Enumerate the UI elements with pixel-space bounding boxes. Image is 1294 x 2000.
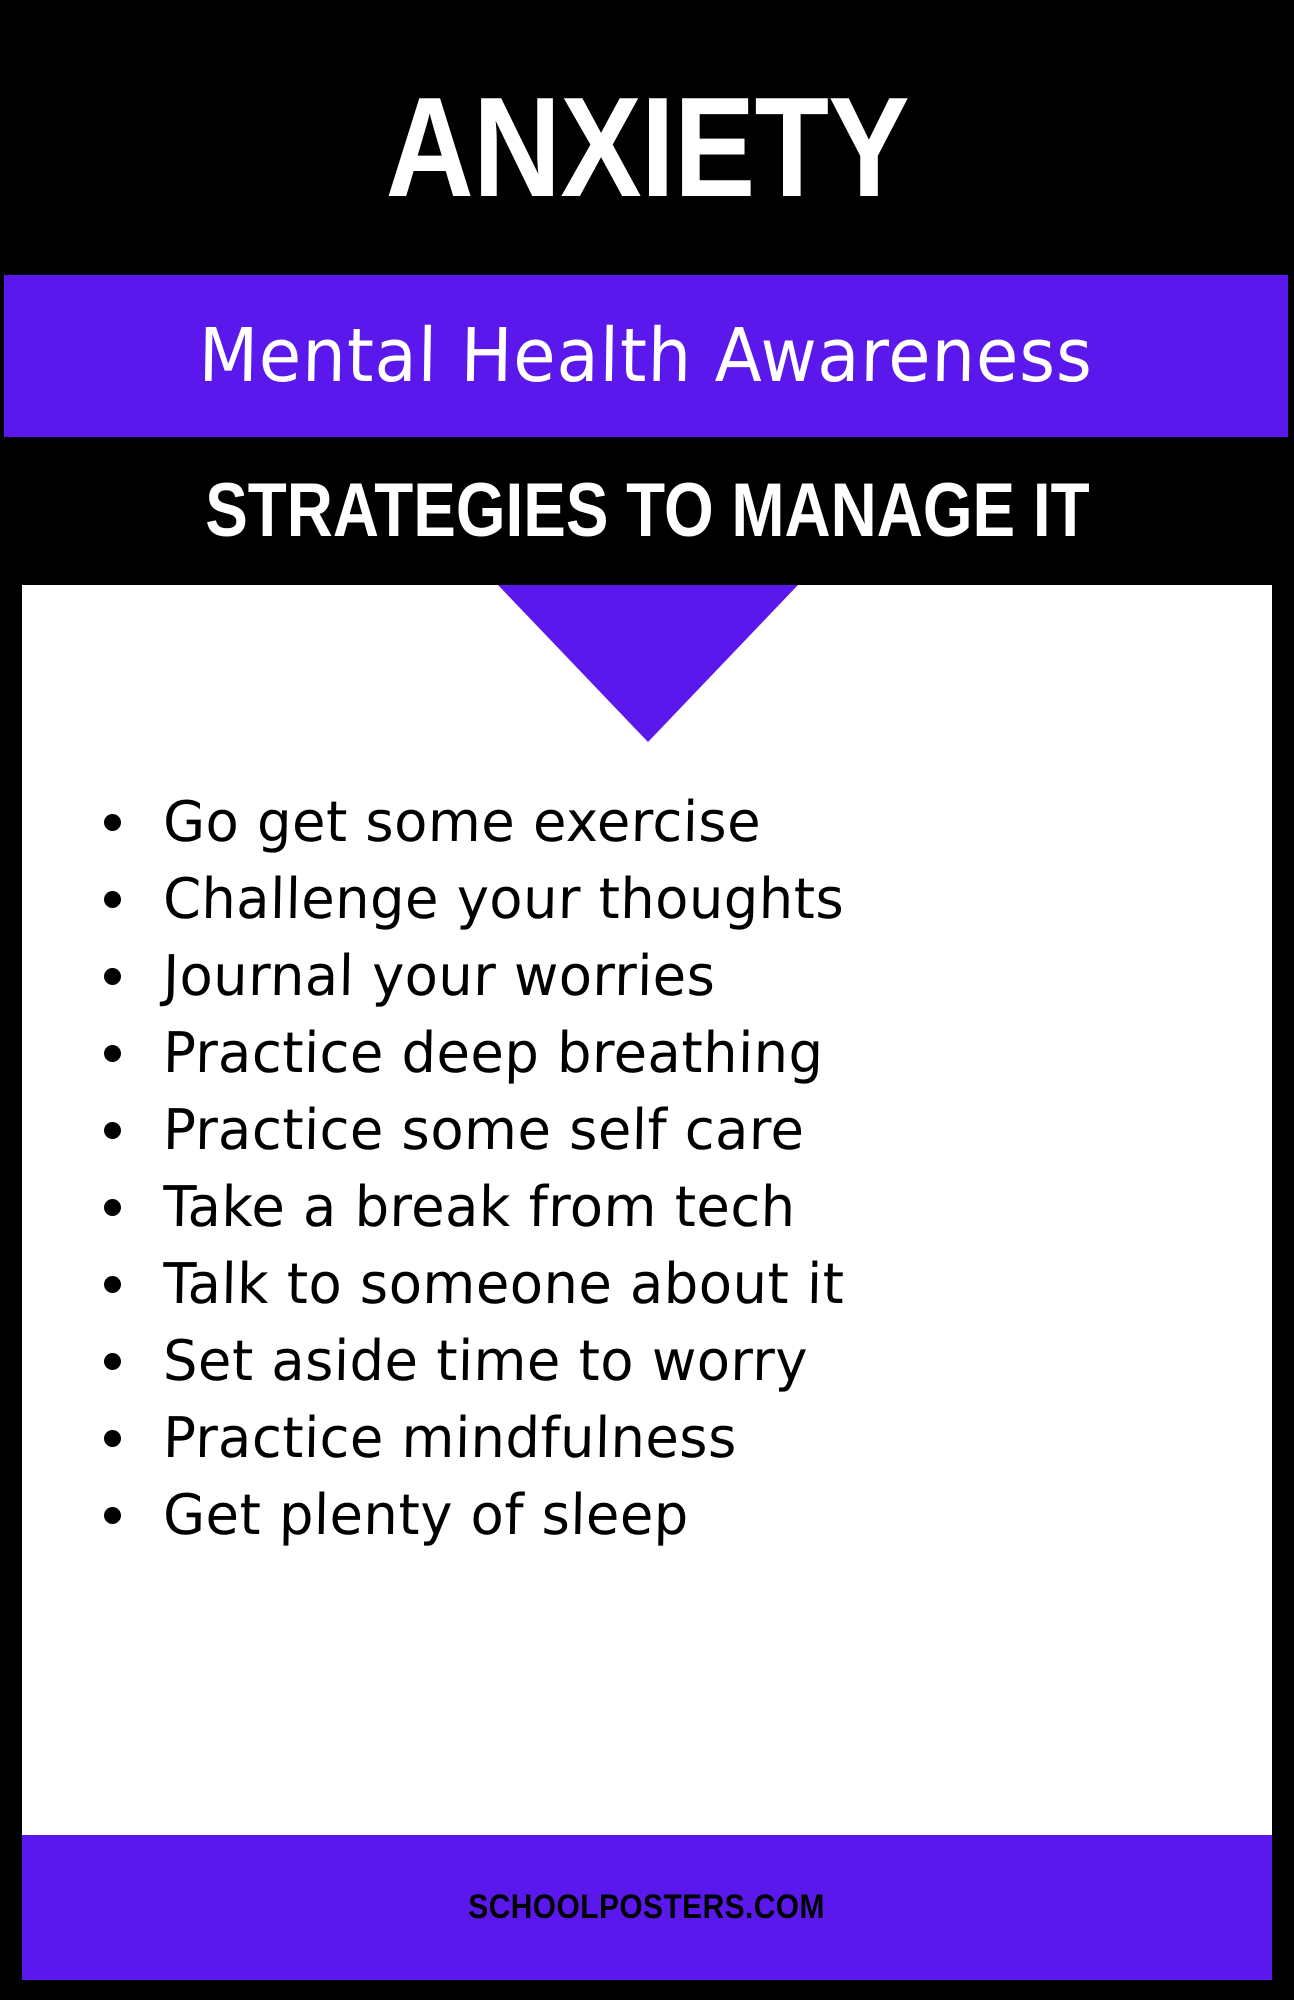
bullet-dot-icon [104, 1199, 121, 1216]
list-item-label: Set aside time to worry [163, 1334, 809, 1390]
bullet-dot-icon [104, 1430, 121, 1447]
bullet-dot-icon [104, 814, 121, 831]
anxiety-poster: ANXIETY Mental Health Awareness STRATEGI… [0, 0, 1294, 2000]
list-item: Practice mindfulness [22, 1411, 1272, 1488]
list-item-label: Take a break from tech [163, 1180, 797, 1236]
list-item-label: Talk to someone about it [163, 1257, 845, 1313]
list-item: Talk to someone about it [22, 1257, 1272, 1334]
bullet-dot-icon [104, 1507, 121, 1524]
page-title: ANXIETY [385, 77, 908, 219]
bullet-dot-icon [104, 891, 121, 908]
list-item-label: Journal your worries [163, 949, 716, 1005]
list-item-label: Practice mindfulness [163, 1411, 738, 1467]
list-item: Practice some self care [22, 1103, 1272, 1180]
list-item-label: Get plenty of sleep [163, 1488, 690, 1544]
poster-subtitle: Mental Health Awareness [198, 319, 1093, 393]
list-item: Set aside time to worry [22, 1334, 1272, 1411]
list-item-label: Go get some exercise [163, 795, 762, 851]
list-item: Journal your worries [22, 949, 1272, 1026]
list-item: Go get some exercise [22, 795, 1272, 872]
list-item: Get plenty of sleep [22, 1488, 1272, 1565]
bullet-dot-icon [104, 968, 121, 985]
subtitle-banner: Mental Health Awareness [4, 275, 1288, 437]
list-item: Challenge your thoughts [22, 872, 1272, 949]
bullet-dot-icon [104, 1045, 121, 1062]
list-item-label: Challenge your thoughts [163, 872, 845, 928]
footer-banner: SCHOOLPOSTERS.COM [22, 1835, 1272, 1980]
bullet-dot-icon [104, 1353, 121, 1370]
section-heading-banner: STRATEGIES TO MANAGE IT [0, 437, 1294, 585]
list-item: Practice deep breathing [22, 1026, 1272, 1103]
tips-list: Go get some exercise Challenge your thou… [22, 795, 1272, 1565]
bullet-dot-icon [104, 1122, 121, 1139]
tips-card: Go get some exercise Challenge your thou… [22, 585, 1272, 1835]
list-item-label: Practice deep breathing [163, 1026, 824, 1082]
list-item: Take a break from tech [22, 1180, 1272, 1257]
section-heading: STRATEGIES TO MANAGE IT [205, 473, 1089, 549]
list-item-label: Practice some self care [163, 1103, 805, 1159]
footer-brand: SCHOOLPOSTERS.COM [469, 1888, 826, 1927]
bullet-dot-icon [104, 1276, 121, 1293]
triangle-down-icon [498, 585, 798, 742]
poster-title-block: ANXIETY [0, 48, 1294, 248]
